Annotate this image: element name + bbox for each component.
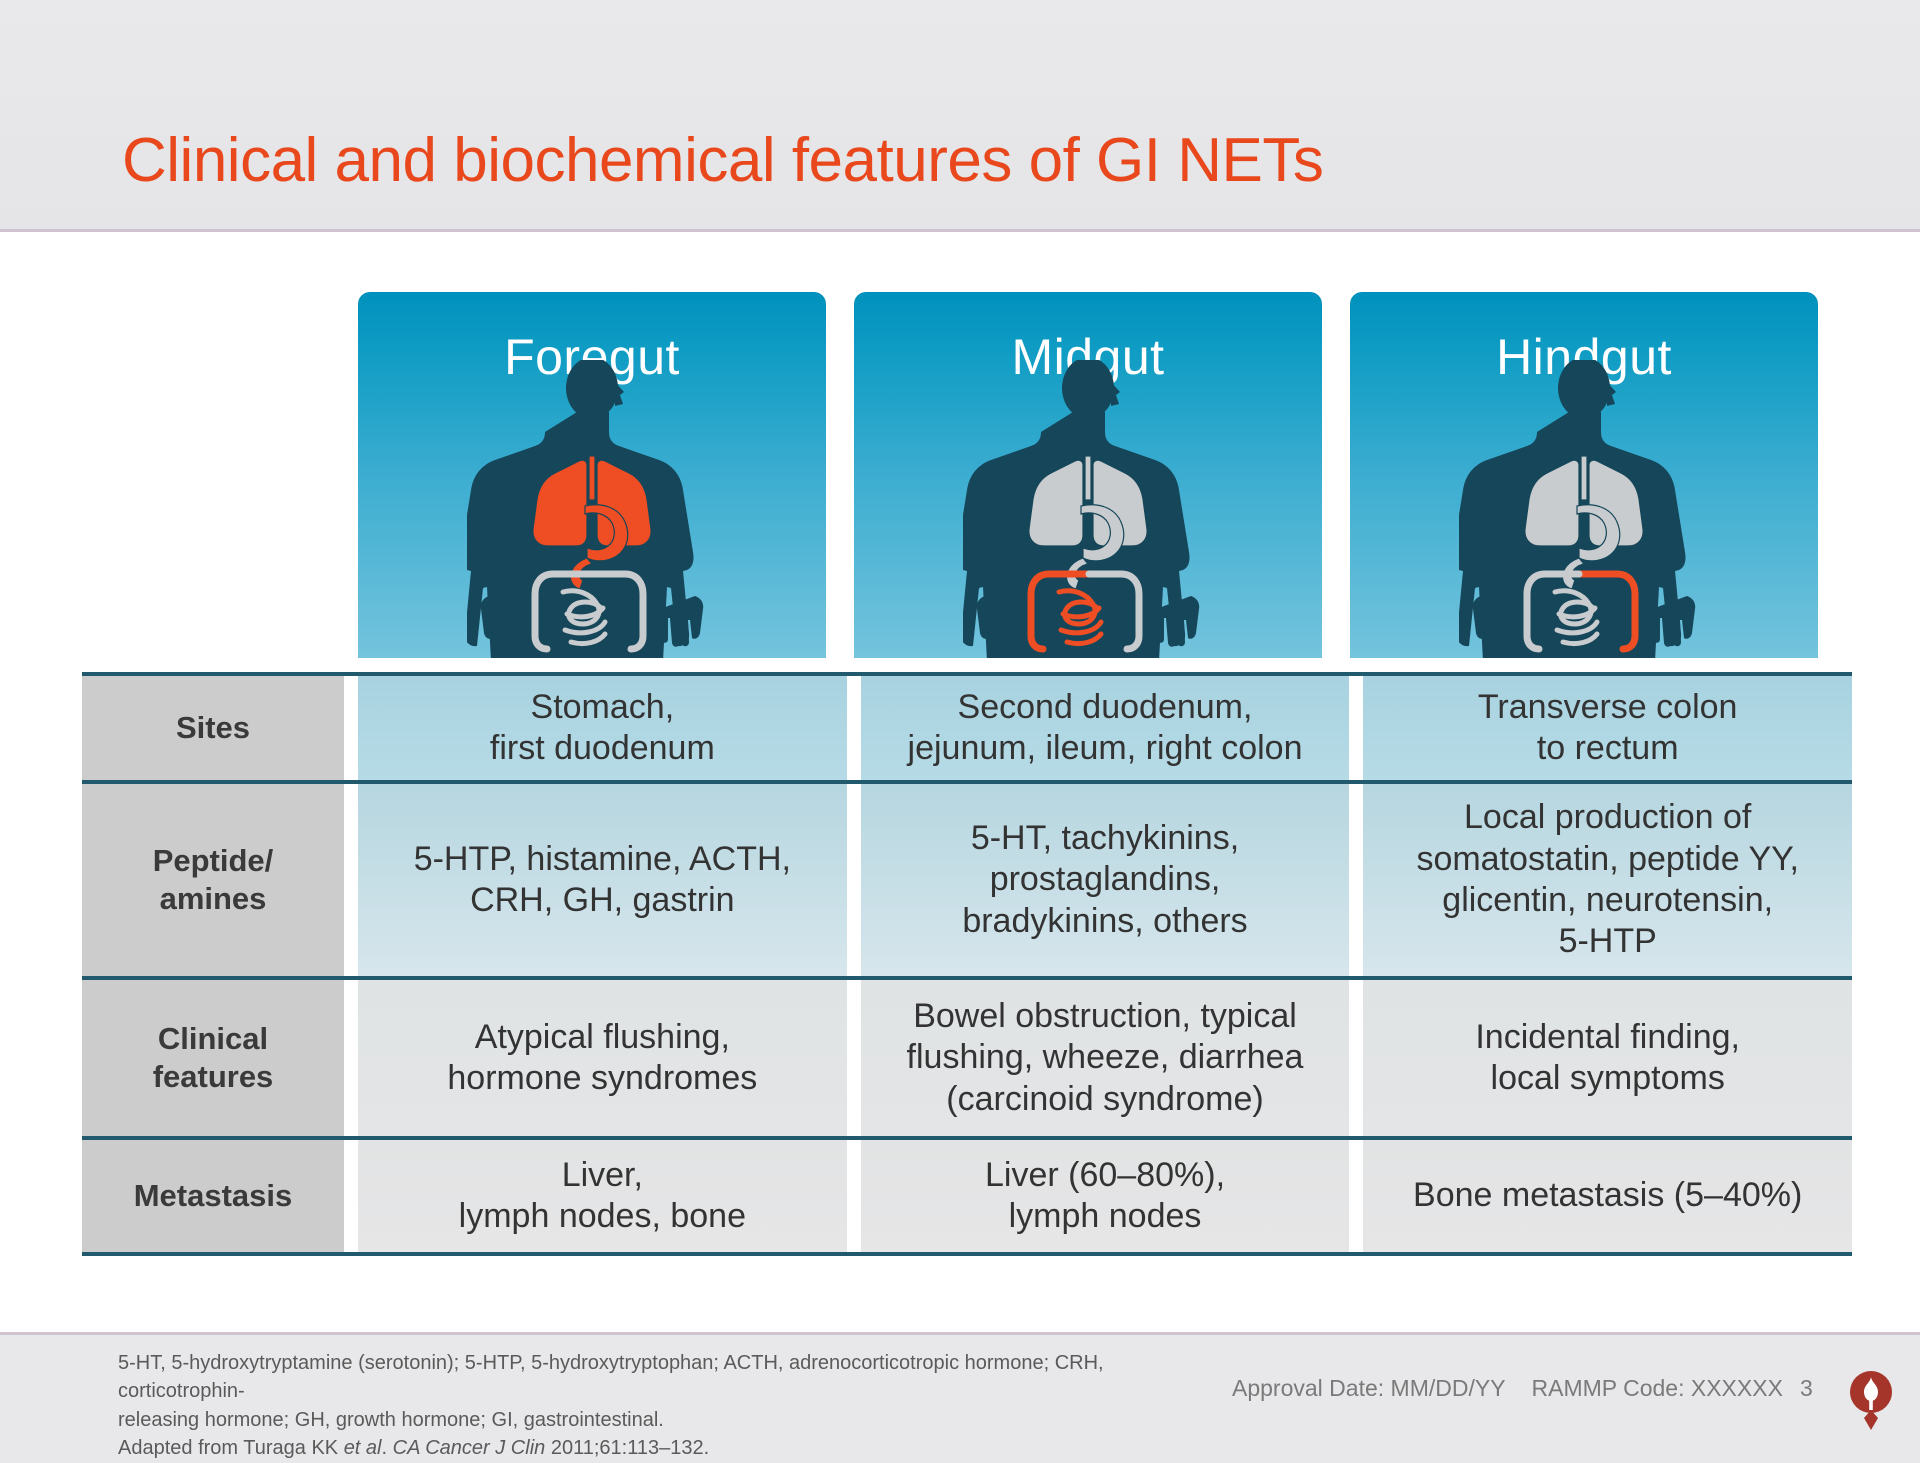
footnote-line-2: releasing hormone; GH, growth hormone; G… bbox=[118, 1406, 1218, 1434]
citation-suffix: 2011;61:113–132. bbox=[545, 1437, 709, 1459]
column-panels: Foregut bbox=[358, 292, 1858, 658]
table-row: Clinicalfeatures Atypical flushing,hormo… bbox=[82, 976, 1852, 1136]
cell-peptide-midgut: 5-HT, tachykinins,prostaglandins,bradyki… bbox=[861, 784, 1350, 976]
table-row: Peptide/amines 5-HTP, histamine, ACTH,CR… bbox=[82, 780, 1852, 976]
citation-mid: . bbox=[382, 1437, 393, 1459]
cell-clinical-foregut: Atypical flushing,hormone syndromes bbox=[358, 980, 847, 1136]
row-label-metastasis: Metastasis bbox=[82, 1140, 344, 1252]
cell-sites-hindgut: Transverse colonto rectum bbox=[1363, 676, 1852, 780]
citation-et-al: et al bbox=[344, 1437, 382, 1459]
slide-body: Foregut bbox=[0, 232, 1920, 1332]
cell-sites-foregut: Stomach,first duodenum bbox=[358, 676, 847, 780]
footnote-block: 5-HT, 5-hydroxytryptamine (serotonin); 5… bbox=[118, 1349, 1218, 1463]
row-label-clinical-features: Clinicalfeatures bbox=[82, 980, 344, 1136]
citation-journal: CA Cancer J Clin bbox=[393, 1437, 546, 1459]
cell-metastasis-hindgut: Bone metastasis (5–40%) bbox=[1363, 1140, 1852, 1252]
table-row: Sites Stomach,first duodenum Second duod… bbox=[82, 672, 1852, 780]
body-figure-foregut bbox=[467, 360, 717, 658]
approval-info: Approval Date: MM/DD/YYRAMMP Code: XXXXX… bbox=[1232, 1375, 1783, 1402]
approval-date-label: Approval Date: MM/DD/YY bbox=[1232, 1375, 1506, 1401]
page-number: 3 bbox=[1800, 1375, 1813, 1402]
cell-peptide-hindgut: Local production ofsomatostatin, peptide… bbox=[1363, 784, 1852, 976]
row-label-sites: Sites bbox=[82, 676, 344, 780]
cell-peptide-foregut: 5-HTP, histamine, ACTH,CRH, GH, gastrin bbox=[358, 784, 847, 976]
citation-prefix: Adapted from Turaga KK bbox=[118, 1437, 344, 1459]
company-logo bbox=[1846, 1368, 1896, 1430]
column-panel-hindgut[interactable]: Hindgut bbox=[1350, 292, 1818, 658]
citation-line: Adapted from Turaga KK et al. CA Cancer … bbox=[118, 1434, 1218, 1462]
table-row: Metastasis Liver,lymph nodes, bone Liver… bbox=[82, 1136, 1852, 1256]
cell-clinical-midgut: Bowel obstruction, typicalflushing, whee… bbox=[861, 980, 1350, 1136]
cell-clinical-hindgut: Incidental finding,local symptoms bbox=[1363, 980, 1852, 1136]
body-figure-hindgut bbox=[1459, 360, 1709, 658]
body-figure-midgut bbox=[963, 360, 1213, 658]
slide-header: Clinical and biochemical features of GI … bbox=[0, 0, 1920, 232]
column-panel-midgut[interactable]: Midgut bbox=[854, 292, 1322, 658]
features-table: Sites Stomach,first duodenum Second duod… bbox=[82, 672, 1852, 1256]
footnote-line-1: 5-HT, 5-hydroxytryptamine (serotonin); 5… bbox=[118, 1349, 1218, 1406]
column-panel-foregut[interactable]: Foregut bbox=[358, 292, 826, 658]
cell-sites-midgut: Second duodenum,jejunum, ileum, right co… bbox=[861, 676, 1350, 780]
cell-metastasis-midgut: Liver (60–80%),lymph nodes bbox=[861, 1140, 1350, 1252]
cell-metastasis-foregut: Liver,lymph nodes, bone bbox=[358, 1140, 847, 1252]
rammp-code-label: RAMMP Code: XXXXXX bbox=[1532, 1375, 1783, 1401]
row-label-peptide-amines: Peptide/amines bbox=[82, 784, 344, 976]
page-title: Clinical and biochemical features of GI … bbox=[122, 128, 1323, 193]
slide-footer: 5-HT, 5-hydroxytryptamine (serotonin); 5… bbox=[0, 1332, 1920, 1440]
